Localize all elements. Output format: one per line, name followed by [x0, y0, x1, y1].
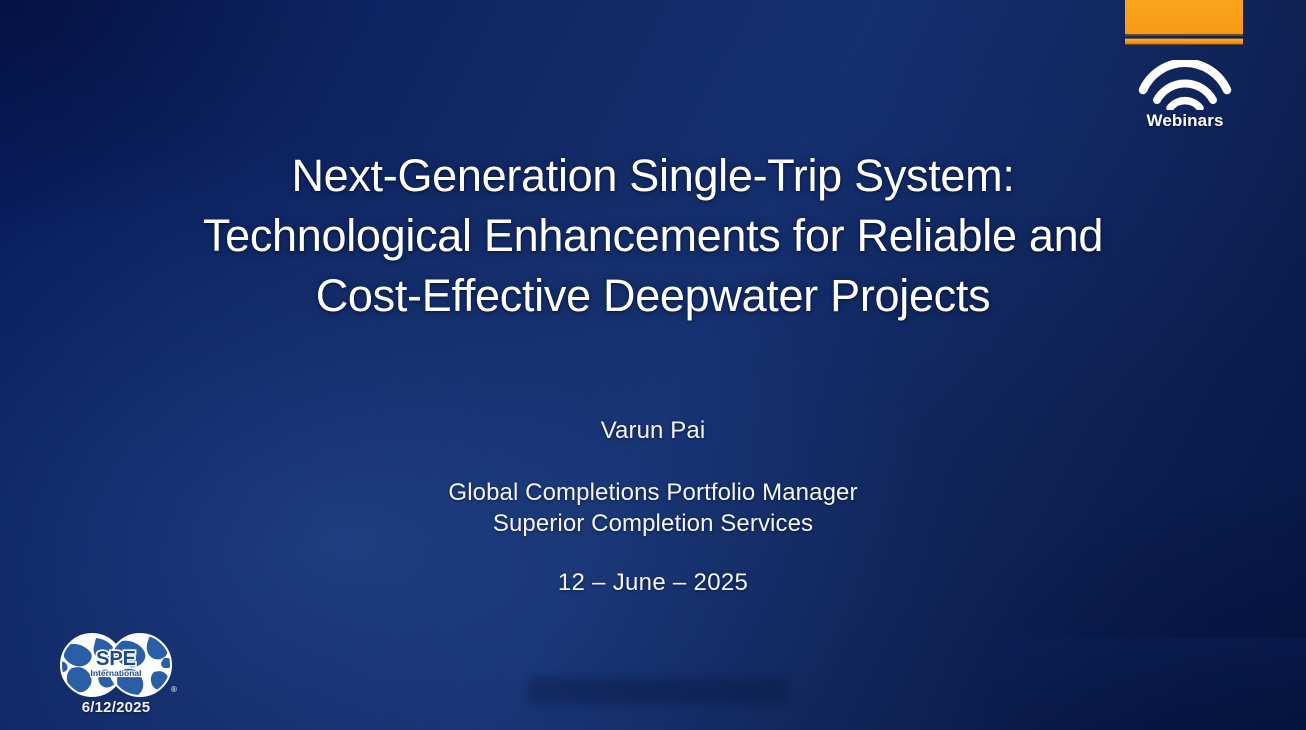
orange-banner-strip: [1125, 38, 1243, 45]
slide-title-line-1: Next-Generation Single-Trip System:: [90, 146, 1216, 206]
presenter-block: Varun Pai Global Completions Portfolio M…: [0, 414, 1306, 599]
wifi-icon: [1137, 60, 1233, 110]
presentation-slide: Webinars Next-Generation Single-Trip Sys…: [0, 0, 1306, 730]
presenter-organization: Superior Completion Services: [0, 508, 1306, 539]
orange-banner-main: [1125, 0, 1243, 36]
spe-international-wordmark: International: [90, 668, 141, 678]
presenter-role: Global Completions Portfolio Manager: [0, 477, 1306, 508]
slide-title: Next-Generation Single-Trip System: Tech…: [0, 146, 1306, 326]
spe-footer: SPE International ® 6/12/2025: [50, 632, 182, 716]
presenter-name: Varun Pai: [0, 414, 1306, 448]
slide-background-rectangle-artifact: [528, 678, 786, 704]
spe-wordmark: SPE: [96, 648, 136, 670]
presentation-date: 12 – June – 2025: [0, 567, 1306, 599]
slide-background-band-artifact: [1000, 638, 1306, 730]
webinars-logo: Webinars: [1125, 60, 1245, 131]
webinars-label: Webinars: [1146, 111, 1223, 131]
webinars-branding: Webinars: [1125, 0, 1245, 131]
footer-date: 6/12/2025: [50, 699, 182, 716]
slide-title-line-2: Technological Enhancements for Reliable …: [90, 206, 1216, 266]
slide-background-vignette: [0, 0, 1306, 730]
spe-trademark-symbol: ®: [171, 685, 177, 694]
slide-title-line-3: Cost-Effective Deepwater Projects: [90, 266, 1216, 326]
spe-international-logo: SPE International ®: [50, 632, 182, 698]
